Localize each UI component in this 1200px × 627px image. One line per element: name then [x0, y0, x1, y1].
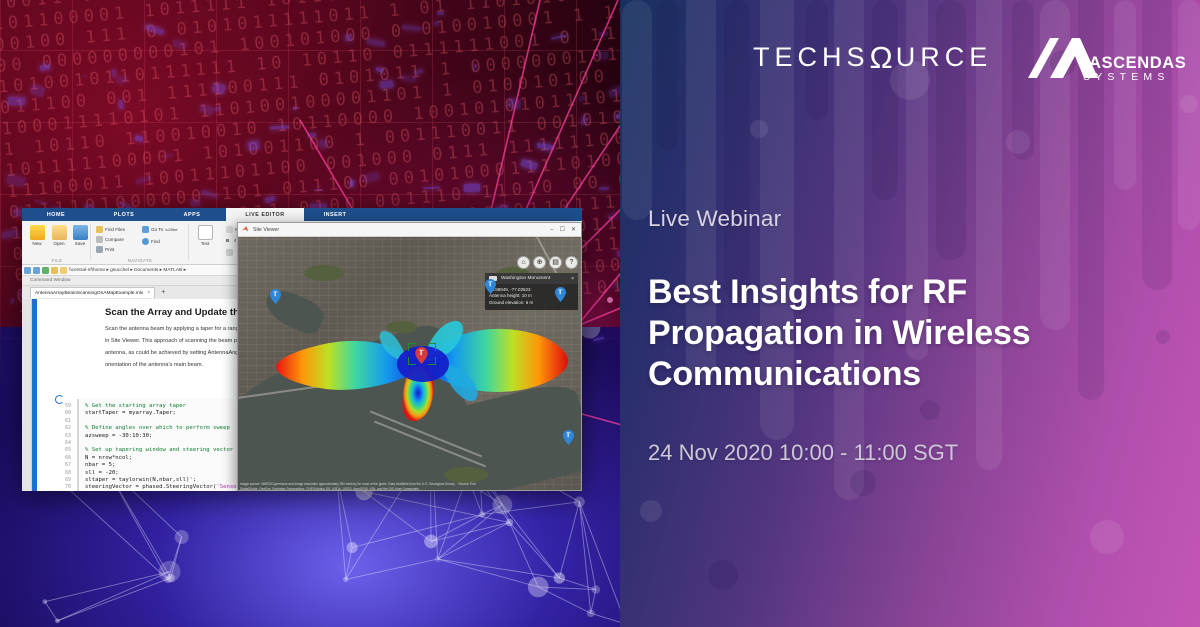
site-viewer-toolbar[interactable]: ⌂ ⊕ ▤ ?	[517, 256, 578, 269]
decorative-dot	[1006, 130, 1030, 154]
minimize-icon[interactable]: –	[550, 227, 553, 233]
code-line-number: 59	[53, 403, 71, 409]
antenna-marker[interactable]	[485, 279, 496, 294]
ribbon-separator	[188, 224, 189, 260]
folder-icon	[60, 267, 67, 274]
code-line[interactable]: % Set up tapering window and steering ve…	[85, 447, 233, 453]
code-line-number: 69	[53, 477, 71, 483]
selection-brackets	[408, 343, 436, 365]
window-controls[interactable]: – ☐ ✕	[550, 226, 581, 233]
antenna-marker[interactable]	[270, 289, 281, 304]
browse-folder-icon[interactable]	[51, 267, 58, 274]
bulleted-list-icon[interactable]	[226, 249, 233, 256]
map-attribution: Image source: GMES/Copernicus and image …	[240, 482, 581, 491]
forward-arrow-icon[interactable]	[33, 267, 40, 274]
print-button[interactable]: Print	[96, 246, 114, 253]
find-button[interactable]: Find	[142, 238, 160, 245]
techsource-logo-post: URCE	[896, 42, 993, 73]
compare-icon	[96, 236, 103, 243]
help-icon[interactable]: ?	[565, 256, 578, 269]
close-icon[interactable]: ✕	[571, 226, 576, 233]
code-line[interactable]: sll = -20;	[85, 470, 119, 476]
site-viewer-title: Site Viewer	[253, 227, 279, 233]
antenna-radiation-pattern	[274, 303, 570, 427]
live-editor-paragraph-line: orientation of the antenna's main beam.	[105, 362, 203, 368]
search-icon	[142, 238, 149, 245]
code-line-number: 62	[53, 425, 71, 431]
text-block-icon	[198, 225, 213, 240]
find-files-icon	[96, 226, 103, 233]
globe-icon[interactable]: ⊕	[533, 256, 546, 269]
bold-icon[interactable]: B	[226, 238, 229, 243]
ribbon-group-file: New Open Save FILE	[24, 223, 90, 263]
chevron-down-icon: \u25be	[165, 227, 177, 232]
text-button[interactable]: Text	[194, 225, 216, 246]
printer-icon	[96, 246, 103, 253]
decorative-dot	[1090, 520, 1124, 554]
find-files-button[interactable]: Find Files	[96, 226, 125, 233]
command-window-label: Command Window	[30, 278, 71, 283]
ribbon-group-label-file: FILE	[24, 258, 90, 263]
antenna-marker[interactable]	[555, 287, 566, 302]
code-line-number: 66	[53, 455, 71, 461]
goto-icon	[142, 226, 149, 233]
page-title-line: Communications	[648, 354, 1168, 395]
code-line-number: 65	[53, 447, 71, 453]
site-info-title: Washington Monument	[501, 276, 550, 281]
decorative-dot	[850, 470, 876, 496]
ribbon-separator	[90, 224, 91, 260]
save-button[interactable]: Save	[69, 225, 91, 246]
code-line[interactable]: % Get the starting array taper	[85, 403, 186, 409]
new-button[interactable]: New	[26, 225, 48, 246]
open-button[interactable]: Open	[48, 225, 70, 246]
techsource-logo-pre: TECHS	[753, 42, 870, 73]
page-title: Best Insights for RF Propagation in Wire…	[648, 272, 1168, 395]
add-tab-icon[interactable]: +	[158, 289, 168, 296]
compare-button[interactable]: Compare	[96, 236, 124, 243]
up-folder-icon[interactable]	[42, 267, 49, 274]
save-disk-icon	[73, 225, 88, 240]
layers-icon[interactable]: ▤	[549, 256, 562, 269]
webinar-banner: 00011 0101111 0010010 0 0011 1 010 00000…	[0, 0, 1200, 627]
page-title-line: Propagation in Wireless	[648, 313, 1168, 354]
decorative-dot	[750, 120, 768, 138]
maximize-icon[interactable]: ☐	[560, 226, 565, 233]
code-line[interactable]: nbar = 5;	[85, 462, 115, 468]
park-area	[304, 265, 344, 281]
techsource-logo: TECHS Ω URCE	[753, 40, 992, 73]
code-line[interactable]: startTaper = myarray.Taper;	[85, 410, 176, 416]
live-editor-paragraph-line: Scan the antenna beam by applying a tape…	[105, 326, 247, 332]
eyebrow-label: Live Webinar	[648, 206, 781, 232]
code-line-number: 67	[53, 462, 71, 468]
style-icon	[226, 226, 233, 233]
tab-apps[interactable]: APPS	[158, 208, 226, 221]
code-line-number: 61	[53, 418, 71, 424]
page-title-line: Best Insights for RF	[648, 272, 1168, 313]
site-info-popup-header: Washington Monument ×	[485, 273, 578, 284]
code-line[interactable]: N = nrow*ncol;	[85, 455, 132, 461]
code-line-number: 63	[53, 433, 71, 439]
tab-insert[interactable]: INSERT	[304, 208, 366, 221]
webinar-datetime: 24 Nov 2020 10:00 - 11:00 SGT	[648, 440, 958, 466]
live-editor-paragraph-line: antenna, as could be achieved by setting…	[105, 350, 243, 356]
ascendas-logo-sub: SYSTEMS	[1083, 71, 1170, 83]
code-line-number: 64	[53, 440, 71, 446]
satellite-map[interactable]: ⌂ ⊕ ▤ ? Washington Monument × 38.8	[238, 237, 582, 491]
close-icon[interactable]: ×	[147, 290, 150, 296]
park-area	[444, 467, 488, 483]
site-viewer-window[interactable]: Site Viewer – ☐ ✕	[237, 222, 582, 491]
decorative-dot	[920, 400, 940, 420]
ribbon-group-navigate: Find Files Compare Print Go To \u25be	[94, 223, 186, 263]
tab-live-editor[interactable]: LIVE EDITOR	[226, 208, 304, 221]
back-arrow-icon[interactable]	[24, 267, 31, 274]
code-line-number: 70	[53, 484, 71, 490]
site-viewer-titlebar: Site Viewer – ☐ ✕	[238, 223, 581, 237]
map-attribution-line: DigitalGlobe, GeoEye, Earthstar Geograph…	[240, 487, 581, 491]
code-line-number: 68	[53, 470, 71, 476]
matlab-logo-icon	[242, 226, 249, 233]
folder-icon	[52, 225, 67, 240]
omega-icon: Ω	[870, 42, 896, 73]
breadcrumb[interactable]: \\central-nf\home ▸ gsucchel ▸ Documents…	[69, 268, 186, 273]
ascendas-logo: ASCENDAS SYSTEMS	[1026, 36, 1186, 86]
ribbon-tab-strip: HOME PLOTS APPS LIVE EDITOR INSERT	[22, 208, 582, 221]
brand-row: TECHS Ω URCE ASCENDAS SYSTEMS	[620, 0, 1200, 120]
live-editor-paragraph-line: in Site Viewer. This approach of scannin…	[105, 338, 245, 344]
document-tab-label: AntennaArrayBeamScanningOnAMapExample.ml…	[35, 291, 143, 296]
tab-plots[interactable]: PLOTS	[90, 208, 158, 221]
decorative-dot	[708, 560, 738, 590]
goto-button[interactable]: Go To \u25be	[142, 226, 177, 233]
matlab-screenshot: HOME PLOTS APPS LIVE EDITOR INSERT New O…	[22, 208, 582, 491]
close-icon[interactable]: ×	[571, 276, 574, 282]
code-line-number: 60	[53, 410, 71, 416]
italic-icon[interactable]: I	[234, 238, 235, 243]
tab-home[interactable]: HOME	[22, 208, 90, 221]
code-line[interactable]: azsweep = -30:10:30;	[85, 433, 152, 439]
matlab-window: HOME PLOTS APPS LIVE EDITOR INSERT New O…	[22, 208, 582, 491]
antenna-marker[interactable]	[563, 430, 574, 445]
ribbon-group-label-navigate: NAVIGATE	[94, 258, 186, 263]
new-file-icon	[30, 225, 45, 240]
code-line[interactable]: % Define angles over which to perform sw…	[85, 425, 230, 431]
editor-left-gutter	[22, 299, 32, 491]
code-line[interactable]: steeringVector = phased.SteeringVector('…	[85, 484, 237, 490]
decorative-dot	[640, 500, 662, 522]
home-icon[interactable]: ⌂	[517, 256, 530, 269]
document-tab[interactable]: AntennaArrayBeamScanningOnAMapExample.ml…	[30, 287, 155, 298]
code-line[interactable]: sltaper = taylorwin(N,nbar,sll)';	[85, 477, 196, 483]
